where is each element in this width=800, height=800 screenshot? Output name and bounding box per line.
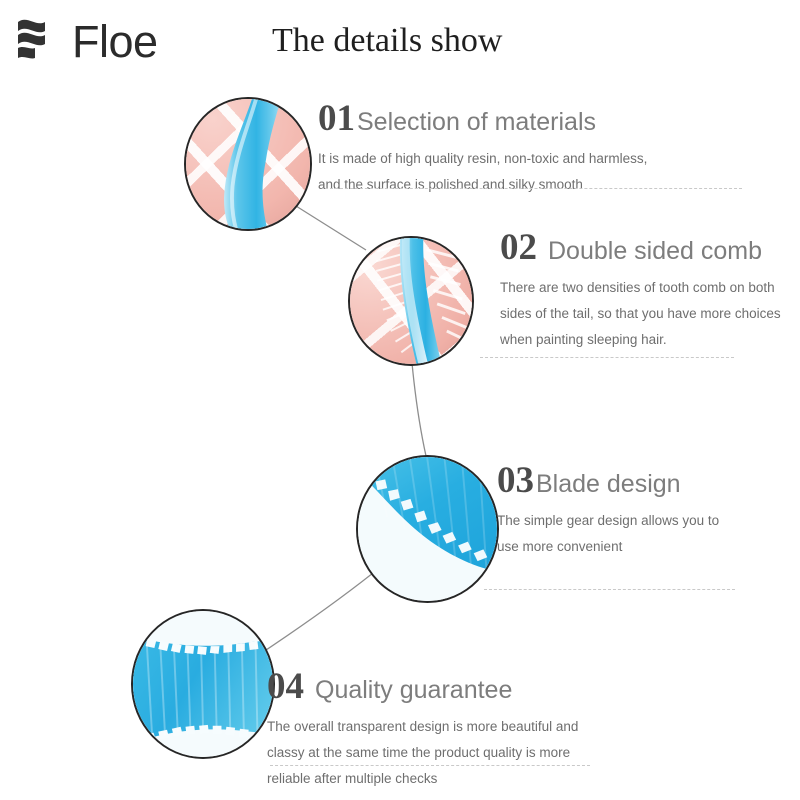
feature-photo-01 [186,99,310,229]
feature-heading-01: 01 Selection of materials [318,100,647,137]
brand-lockup: Floe [14,16,158,66]
feature-body-02: There are two densities of tooth comb on… [500,275,781,353]
divider-after-04 [270,765,590,766]
feature-image-03 [356,455,499,603]
feature-body-03: The simple gear design allows you to use… [497,508,719,560]
connector-02-to-03 [412,363,426,456]
feature-title-04: Quality guarantee [315,678,512,703]
feature-image-02 [348,236,474,366]
feature-block-03: 03 Blade design The simple gear design a… [497,462,719,560]
feature-block-01: 01 Selection of materials It is made of … [318,100,647,198]
feature-block-04: 04 Quality guarantee The overall transpa… [267,668,578,792]
feature-photo-04 [133,611,273,757]
product-details-infographic: Floe The details show [0,0,800,800]
feature-number-04: 04 [267,668,304,705]
feature-title-01: Selection of materials [357,110,596,135]
comb-handle-shape [186,99,310,229]
feature-heading-02: 02 Double sided comb [500,229,781,266]
divider-after-01 [325,188,742,189]
feature-image-01 [184,97,312,231]
feature-heading-03: 03 Blade design [497,462,719,499]
feature-title-02: Double sided comb [548,239,762,264]
feature-image-04 [131,609,275,759]
feature-body-01: It is made of high quality resin, non-to… [318,146,647,198]
double-sided-comb-shape [350,238,472,364]
feature-number-02: 02 [500,229,537,266]
feature-body-04: The overall transparent design is more b… [267,714,578,792]
feature-heading-04: 04 Quality guarantee [267,668,578,705]
brand-name: Floe [72,19,158,64]
divider-after-03 [484,589,735,590]
blade-gear-edge-shape [358,457,497,601]
feature-photo-02 [350,238,472,364]
wavy-stack-logo-icon [14,16,66,66]
page-title: The details show [272,24,502,58]
feature-number-01: 01 [318,100,355,137]
feature-number-03: 03 [497,462,534,499]
transparent-ribbed-body-shape [133,611,273,757]
feature-block-02: 02 Double sided comb There are two densi… [500,229,781,353]
feature-title-03: Blade design [536,472,681,497]
feature-photo-03 [358,457,497,601]
divider-after-02 [480,357,734,358]
page-header: Floe The details show [0,0,800,86]
